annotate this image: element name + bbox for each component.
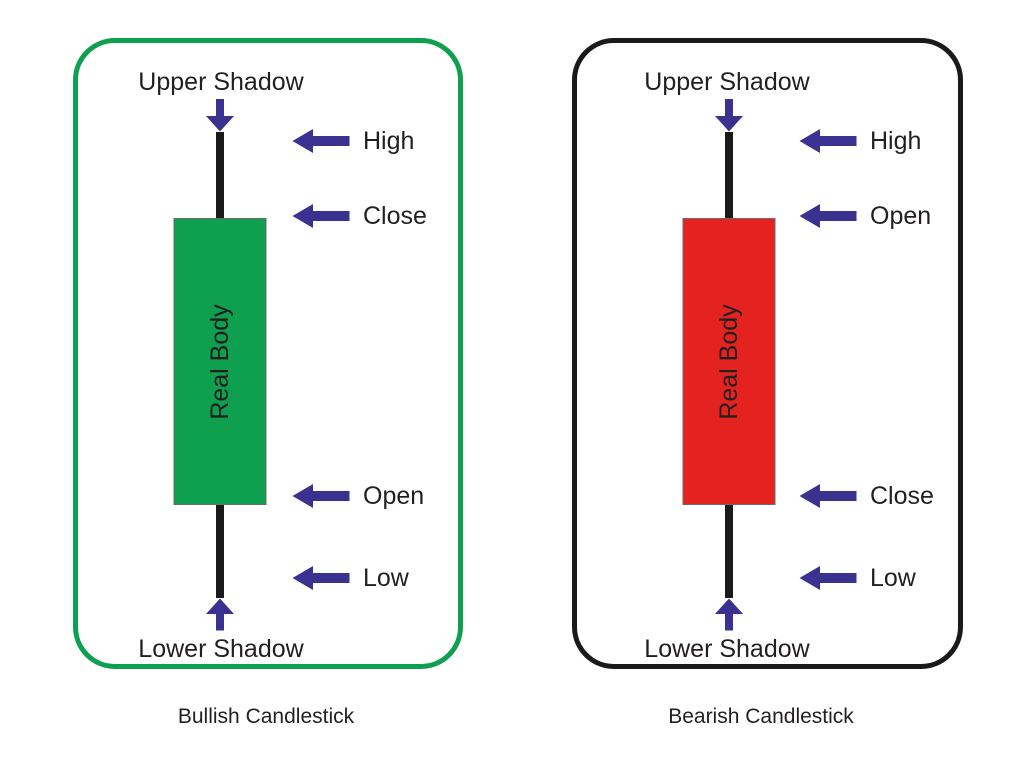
callout-label-close-bullish: Close (363, 204, 427, 229)
diagram-canvas: Upper Shadow Real Body Lower Shadow High (0, 0, 1024, 768)
real-body-label-bearish: Real Body (717, 304, 742, 419)
callout-label-high-bullish: High (363, 129, 414, 154)
callout-label-open-bearish: Open (870, 204, 931, 229)
real-body-label-bullish: Real Body (208, 304, 233, 419)
callout-open-bearish: Open (799, 201, 931, 231)
arrow-down-icon-upper-shadow-bearish (714, 99, 745, 132)
arrow-left-icon-open-bearish (799, 203, 857, 229)
arrow-down-icon-upper-shadow-bullish (205, 99, 236, 132)
callout-low-bullish: Low (292, 563, 409, 593)
lower-shadow-wick-bullish (216, 505, 224, 598)
arrow-left-icon-open-bullish (292, 483, 350, 509)
arrow-left-icon-close-bullish (292, 203, 350, 229)
callout-close-bearish: Close (799, 481, 934, 511)
arrow-left-icon-low-bullish (292, 565, 350, 591)
caption-bullish-candlestick: Bullish Candlestick (178, 706, 354, 727)
callout-label-high-bearish: High (870, 129, 921, 154)
callout-high-bearish: High (799, 126, 921, 156)
callout-open-bullish: Open (292, 481, 424, 511)
arrow-left-icon-high-bullish (292, 128, 350, 154)
callout-label-low-bearish: Low (870, 566, 916, 591)
callout-close-bullish: Close (292, 201, 427, 231)
arrow-up-icon-lower-shadow-bullish (205, 598, 236, 631)
lower-shadow-label-bearish: Lower Shadow (644, 637, 809, 662)
arrow-up-icon-lower-shadow-bearish (714, 598, 745, 631)
arrow-left-icon-close-bearish (799, 483, 857, 509)
upper-shadow-label-bearish: Upper Shadow (644, 70, 809, 95)
callout-label-close-bearish: Close (870, 484, 934, 509)
arrow-left-icon-low-bearish (799, 565, 857, 591)
lower-shadow-label-bullish: Lower Shadow (138, 637, 303, 662)
callout-low-bearish: Low (799, 563, 916, 593)
callout-label-low-bullish: Low (363, 566, 409, 591)
arrow-left-icon-high-bearish (799, 128, 857, 154)
upper-shadow-wick-bullish (216, 132, 224, 218)
upper-shadow-label-bullish: Upper Shadow (138, 70, 303, 95)
callout-high-bullish: High (292, 126, 414, 156)
caption-bearish-candlestick: Bearish Candlestick (668, 706, 854, 727)
real-body-bullish: Real Body (174, 218, 267, 505)
upper-shadow-wick-bearish (725, 132, 733, 218)
lower-shadow-wick-bearish (725, 505, 733, 598)
real-body-bearish: Real Body (683, 218, 776, 505)
callout-label-open-bullish: Open (363, 484, 424, 509)
